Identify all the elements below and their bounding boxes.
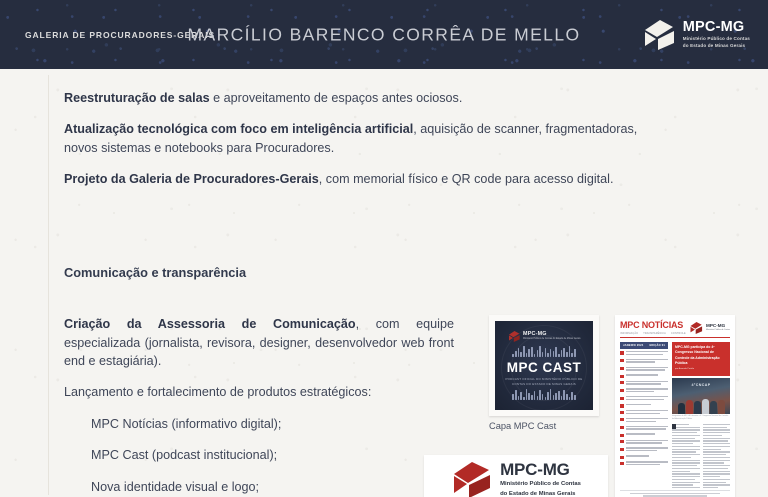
left-divider (48, 75, 49, 495)
newsletter-tag: INFORMAÇÃO (620, 332, 638, 335)
newsletter-title: MPC NOTÍCIAS (620, 321, 686, 330)
mpc-cast-artwork: MPC-MG Ministério Público de Contas do E… (495, 321, 593, 410)
mpc-mg-mark-icon (508, 331, 521, 342)
figure-mpc-cast: MPC-MG Ministério Público de Contas do E… (489, 315, 599, 431)
toc-bullet-icon (620, 456, 624, 459)
toc-entry (620, 426, 668, 431)
list-item: MPC Notícias (informativo digital); (64, 415, 394, 434)
toc-bullet-icon (620, 434, 624, 437)
toc-bullet-icon (620, 389, 624, 392)
top-paragraph-block: Reestruturação de salas e aproveitamento… (64, 89, 664, 188)
mpc-mg-mark-icon (451, 462, 493, 497)
toc-bullet-icon (620, 411, 624, 414)
newsletter-brand: MPC NOTÍCIAS INFORMAÇÃO TRANSPARÊNCIA CO… (620, 321, 686, 335)
newsletter-logo: MPC-MG Ministério Público de Contas (689, 322, 730, 334)
mpc-noticias-cover-image: MPC NOTÍCIAS INFORMAÇÃO TRANSPARÊNCIA CO… (615, 315, 735, 497)
mpc-cast-logo-name: MPC-MG (523, 332, 580, 337)
new-logo-text: MPC-MG Ministério Público de Contas do E… (500, 461, 581, 497)
header-logo-subtitle-2: do Estado de Minas Gerais (683, 43, 750, 49)
toc-text-lines (626, 381, 668, 386)
article-column (672, 424, 700, 490)
slide-body: Reestruturação de salas e aproveitamento… (0, 69, 768, 497)
newsletter-photo-banner: 4°CNCAP (691, 383, 710, 387)
toc-entry (620, 351, 668, 356)
mpc-cast-title: MPC CAST (507, 360, 582, 375)
waveform-icon (512, 389, 575, 400)
toc-entry (620, 455, 668, 459)
toc-entry (620, 367, 668, 372)
dropcap-icon (672, 424, 676, 429)
new-logo-subtitle-2: do Estado de Minas Gerais (500, 490, 581, 497)
section-heading: Comunicação e transparência (64, 265, 246, 280)
new-logo-subtitle-1: Ministério Público de Contas (500, 480, 581, 489)
toc-bullet-icon (620, 418, 624, 421)
toc-bullet-icon (620, 448, 624, 451)
paragraph-bold-lead: Projeto da Galeria de Procuradores-Gerai… (64, 172, 319, 186)
toc-bullet-icon (620, 381, 624, 384)
toc-bullet-icon (620, 440, 624, 443)
list-item: Nova identidade visual e logo; (64, 478, 394, 497)
newsletter-issue-number: EDIÇÃO 01 (650, 344, 666, 347)
newsletter-logo-text: MPC-MG Ministério Público de Contas (706, 324, 730, 331)
toc-text-lines (626, 447, 668, 452)
toc-bullet-icon (620, 367, 624, 370)
figure-mpc-noticias: MPC NOTÍCIAS INFORMAÇÃO TRANSPARÊNCIA CO… (615, 315, 735, 497)
newsletter-article-columns (672, 424, 730, 490)
assessoria-bold-lead: Criação da Assessoria de Comunicação (64, 317, 356, 331)
toc-bullet-icon (620, 397, 624, 400)
figure-caption-mpc-cast: Capa MPC Cast (489, 421, 599, 431)
new-logo-image: MPC-MG Ministério Público de Contas do E… (424, 455, 608, 497)
newsletter-headline: MPC-MG participa do 4º Congresso Naciona… (672, 342, 730, 376)
newsletter-tag: CONTROLE (671, 332, 686, 335)
mpc-cast-cover-image: MPC-MG Ministério Público de Contas do E… (489, 315, 599, 416)
toc-text-lines (626, 388, 668, 393)
paragraph-bold-lead: Atualização tecnológica com foco em inte… (64, 122, 413, 136)
mpc-cast-subtitle: PODCAST OFICIAL DO MINISTÉRIO PÚBLICO DE… (502, 377, 586, 386)
newsletter-issue-bar: JANEIRO 2024 EDIÇÃO 01 (620, 342, 668, 349)
list-item: MPC Cast (podcast institucional); (64, 446, 394, 465)
toc-entry (620, 396, 668, 401)
toc-text-lines (626, 351, 668, 356)
toc-bullet-icon (620, 404, 624, 407)
products-intro: Lançamento e fortalecimento de produtos … (64, 383, 454, 402)
toc-entry (620, 374, 668, 378)
mpc-cast-logo-subtitle: Ministério Público de Contas do Estado d… (523, 338, 580, 341)
paragraph-galeria: Projeto da Galeria de Procuradores-Gerai… (64, 170, 664, 188)
toc-bullet-icon (620, 375, 624, 378)
toc-entry (620, 388, 668, 393)
products-list: MPC Notícias (informativo digital); MPC … (64, 415, 454, 497)
newsletter-article-column: MPC-MG participa do 4º Congresso Naciona… (672, 342, 730, 490)
newsletter-toc-column: JANEIRO 2024 EDIÇÃO 01 (620, 342, 668, 490)
toc-bullet-icon (620, 462, 624, 465)
toc-entry (620, 404, 668, 408)
newsletter-headline-text: MPC-MG participa do 4º Congresso Naciona… (675, 345, 720, 366)
paragraph-rest: e aproveitamento de espaços antes ocioso… (210, 91, 463, 105)
header-logo-name: MPC-MG (683, 20, 750, 35)
header-logo-subtitle-1: Ministério Público de Contas (683, 36, 750, 42)
newsletter-body: JANEIRO 2024 EDIÇÃO 01 (620, 342, 730, 490)
figure-new-logo: MPC-MG Ministério Público de Contas do E… (424, 455, 608, 497)
newsletter-masthead: MPC NOTÍCIAS INFORMAÇÃO TRANSPARÊNCIA CO… (620, 321, 730, 338)
newsletter-tag: TRANSPARÊNCIA (643, 332, 666, 335)
mpc-mg-mark-icon (643, 20, 677, 50)
toc-text-lines (626, 404, 668, 407)
newsletter-footer (620, 490, 730, 497)
toc-text-lines (626, 367, 668, 372)
left-content-column: Criação da Assessoria de Comunicação, co… (64, 315, 454, 497)
newsletter-photo: 4°CNCAP (672, 378, 730, 414)
toc-text-lines (626, 396, 668, 401)
paragraph-rest: , com memorial físico e QR code para ace… (319, 172, 614, 186)
header-logo-text: MPC-MG Ministério Público de Contas do E… (683, 20, 750, 50)
waveform-icon (512, 346, 575, 357)
assessoria-paragraph: Criação da Assessoria de Comunicação, co… (64, 315, 454, 371)
toc-entry (620, 418, 668, 423)
newsletter-tags: INFORMAÇÃO TRANSPARÊNCIA CONTROLE (620, 332, 686, 335)
page-header: GALERIA DE PROCURADORES-GERAIS MARCÍLIO … (0, 0, 768, 69)
paragraph-reestruturacao: Reestruturação de salas e aproveitamento… (64, 89, 664, 107)
newsletter-photo-caption: Integrantes do MPC-MG durante o 4º Congr… (672, 415, 730, 420)
toc-bullet-icon (620, 426, 624, 429)
toc-entry (620, 461, 668, 466)
toc-text-lines (626, 374, 668, 377)
toc-text-lines (626, 440, 668, 445)
toc-entry (620, 410, 668, 415)
newsletter-issue-date: JANEIRO 2024 (623, 344, 643, 347)
newsletter-logo-subtitle: Ministério Público de Contas (706, 329, 730, 331)
toc-entry (620, 359, 668, 364)
toc-bullet-icon (620, 359, 624, 362)
newsletter-headline-byline: por Amanda Paixão (675, 368, 727, 372)
new-logo-name: MPC-MG (500, 461, 581, 478)
toc-text-lines (626, 426, 668, 431)
toc-entry (620, 447, 668, 452)
toc-text-lines (626, 359, 668, 364)
toc-entry (620, 440, 668, 445)
toc-text-lines (626, 410, 668, 415)
toc-bullet-icon (620, 351, 624, 354)
toc-text-lines (626, 433, 668, 436)
article-column (703, 424, 731, 490)
newsletter-photo-people (672, 392, 730, 414)
header-logo: MPC-MG Ministério Público de Contas do E… (643, 20, 750, 50)
toc-text-lines (626, 455, 668, 458)
toc-text-lines (626, 461, 668, 466)
mpc-mg-mark-icon (689, 322, 704, 334)
toc-text-lines (626, 418, 668, 423)
paragraph-atualizacao: Atualização tecnológica com foco em inte… (64, 120, 664, 157)
toc-entry (620, 381, 668, 386)
mpc-cast-logo-text: MPC-MG Ministério Público de Contas do E… (523, 332, 580, 341)
mpc-cast-logo: MPC-MG Ministério Público de Contas do E… (508, 331, 581, 342)
toc-entry (620, 433, 668, 437)
paragraph-bold-lead: Reestruturação de salas (64, 91, 210, 105)
